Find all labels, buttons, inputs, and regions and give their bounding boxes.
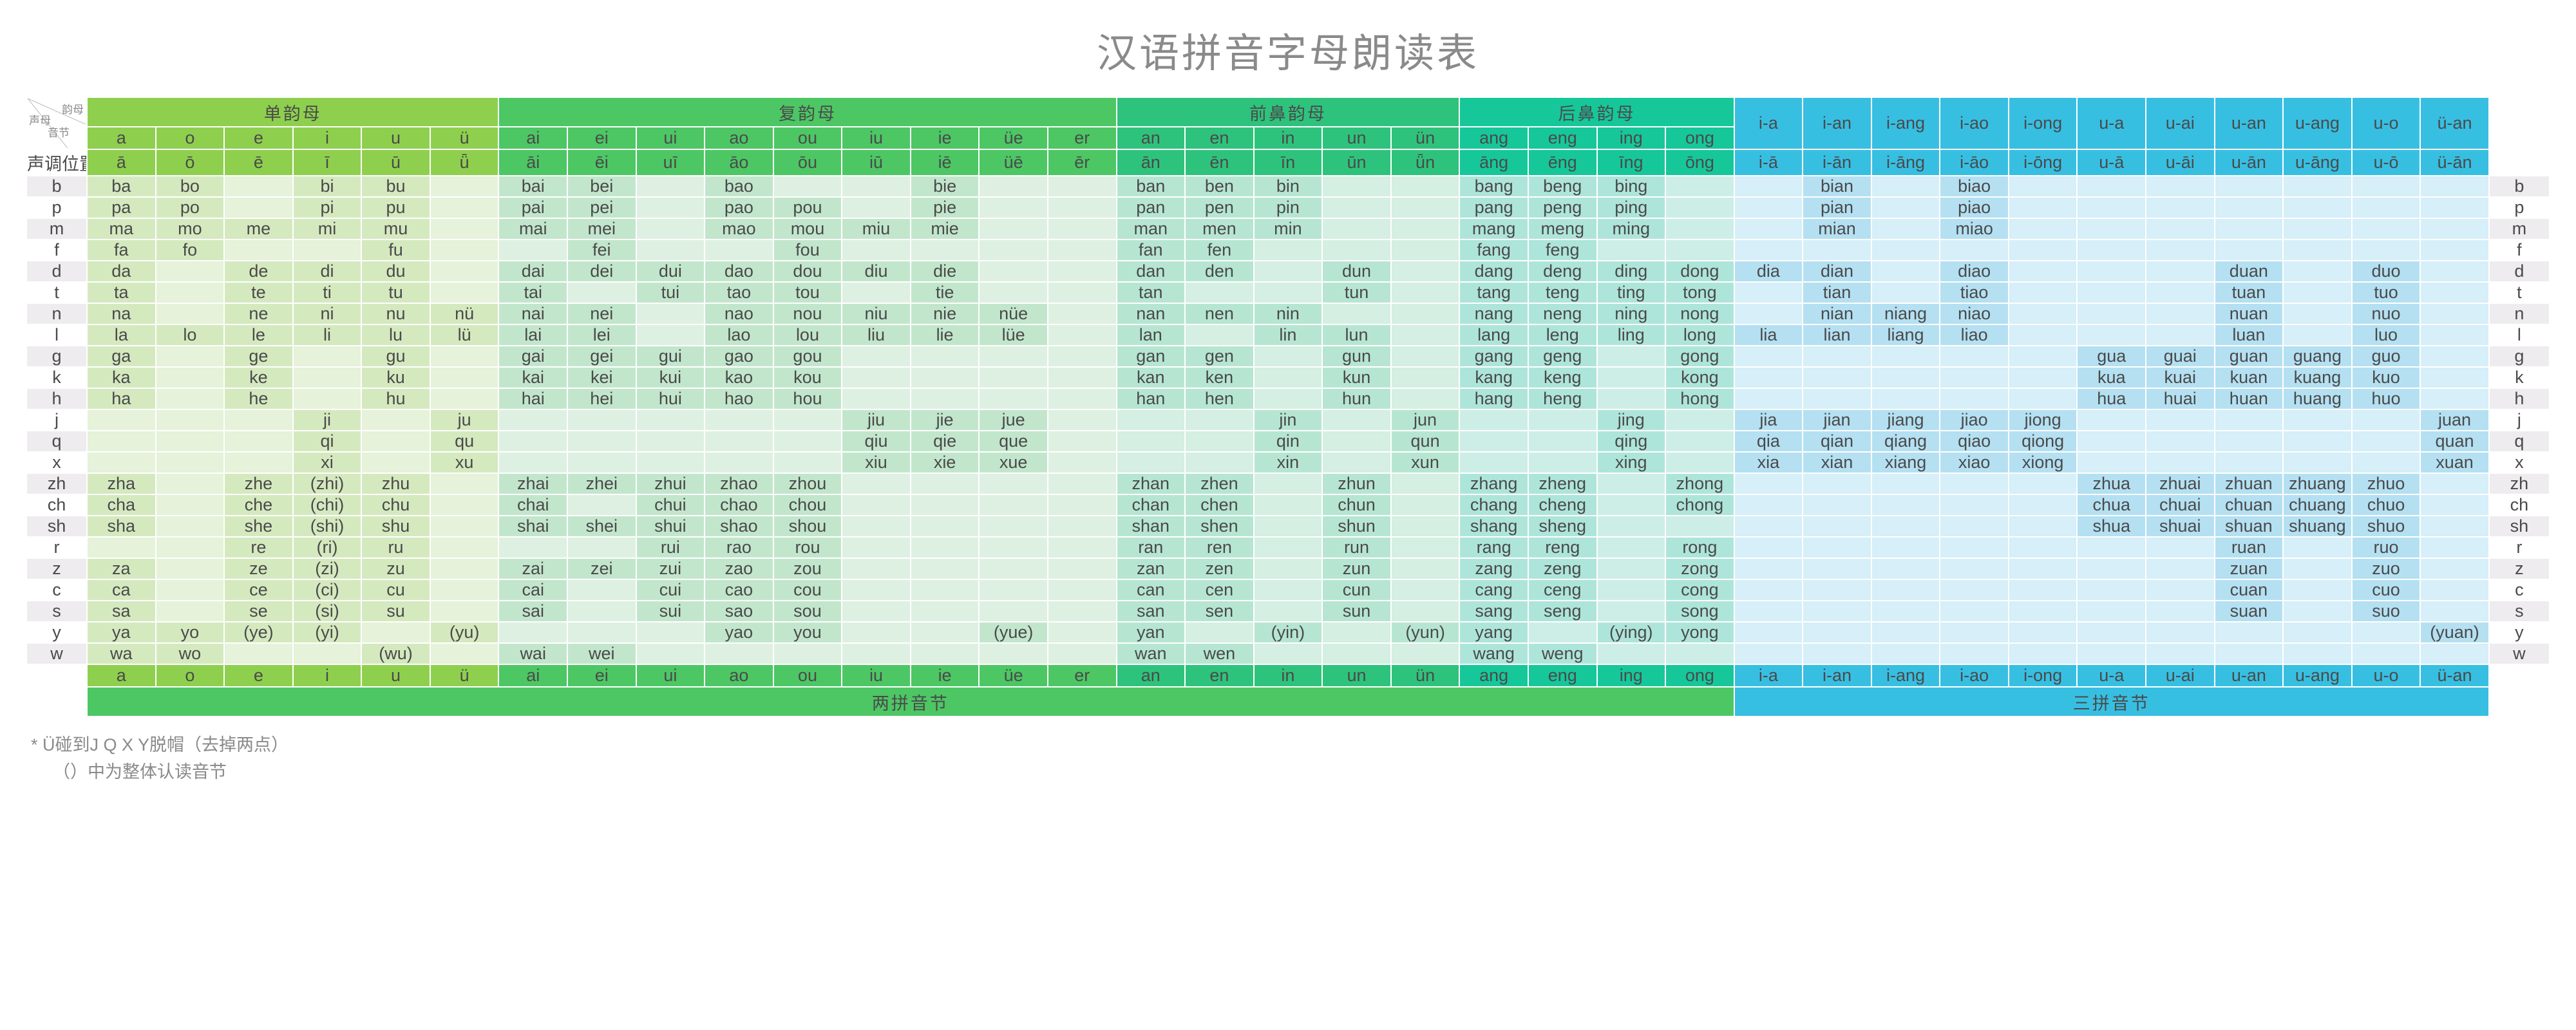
syllable-cell[interactable]: diu [842,261,910,281]
syllable-cell[interactable]: ming [1598,219,1665,239]
syllable-cell[interactable]: tuo [2353,283,2420,303]
syllable-cell[interactable]: kong [1666,368,1734,388]
syllable-cell[interactable]: diao [1940,261,2008,281]
syllable-cell[interactable]: kai [499,368,567,388]
syllable-cell[interactable]: pao [705,198,773,218]
syllable-cell[interactable]: zao [705,559,773,579]
syllable-cell[interactable]: mu [362,219,430,239]
syllable-cell[interactable]: seng [1529,601,1596,621]
syllable-cell[interactable]: kuang [2284,368,2351,388]
syllable-cell[interactable]: ben [1186,176,1253,196]
syllable-cell[interactable]: beng [1529,176,1596,196]
syllable-cell[interactable]: duan [2215,261,2283,281]
syllable-cell[interactable]: bei [568,176,636,196]
syllable-cell[interactable]: xiong [2009,453,2077,473]
syllable-cell[interactable]: qia [1735,431,1803,451]
syllable-cell[interactable]: sai [499,601,567,621]
syllable-cell[interactable]: zheng [1529,474,1596,494]
syllable-cell[interactable]: zha [88,474,155,494]
syllable-cell[interactable]: zhuang [2284,474,2351,494]
syllable-cell[interactable]: huan [2215,389,2283,409]
syllable-cell[interactable]: ma [88,219,155,239]
syllable-cell[interactable]: ruan [2215,538,2283,557]
syllable-cell[interactable]: mei [568,219,636,239]
syllable-cell[interactable]: tie [911,283,979,303]
syllable-cell[interactable]: rao [705,538,773,557]
syllable-cell[interactable]: nou [774,304,842,324]
syllable-cell[interactable]: gao [705,346,773,366]
syllable-cell[interactable]: ban [1117,176,1185,196]
syllable-cell[interactable]: mao [705,219,773,239]
syllable-cell[interactable]: cui [637,580,705,600]
syllable-cell[interactable]: duo [2353,261,2420,281]
syllable-cell[interactable]: gei [568,346,636,366]
syllable-cell[interactable]: jie [911,410,979,430]
syllable-cell[interactable]: suan [2215,601,2283,621]
syllable-cell[interactable]: kun [1323,368,1390,388]
syllable-cell[interactable]: hen [1186,389,1253,409]
syllable-cell[interactable]: nu [362,304,430,324]
syllable-cell[interactable]: reng [1529,538,1596,557]
syllable-cell[interactable]: gua [2078,346,2145,366]
syllable-cell[interactable]: zang [1460,559,1528,579]
syllable-cell[interactable]: sang [1460,601,1528,621]
syllable-cell[interactable]: pou [774,198,842,218]
syllable-cell[interactable]: sa [88,601,155,621]
syllable-cell[interactable]: lü [431,325,498,345]
syllable-cell[interactable]: shun [1323,516,1390,536]
syllable-cell[interactable]: ka [88,368,155,388]
syllable-cell[interactable]: zuo [2353,559,2420,579]
syllable-cell[interactable]: nao [705,304,773,324]
syllable-cell[interactable]: long [1666,325,1734,345]
syllable-cell[interactable]: shei [568,516,636,536]
syllable-cell[interactable]: lai [499,325,567,345]
syllable-cell[interactable]: juan [2421,410,2488,430]
syllable-cell[interactable]: cai [499,580,567,600]
syllable-cell[interactable]: sui [637,601,705,621]
syllable-cell[interactable]: lian [1803,325,1871,345]
syllable-cell[interactable]: xi [294,453,361,473]
syllable-cell[interactable]: kou [774,368,842,388]
syllable-cell[interactable]: gan [1117,346,1185,366]
syllable-cell[interactable]: cang [1460,580,1528,600]
syllable-cell[interactable]: kua [2078,368,2145,388]
syllable-cell[interactable]: yang [1460,623,1528,642]
syllable-cell[interactable]: gang [1460,346,1528,366]
syllable-cell[interactable]: he [225,389,292,409]
syllable-cell[interactable]: zhuai [2146,474,2214,494]
syllable-cell[interactable]: cuan [2215,580,2283,600]
syllable-cell[interactable]: nei [568,304,636,324]
syllable-cell[interactable]: guai [2146,346,2214,366]
syllable-cell[interactable]: fei [568,240,636,260]
syllable-cell[interactable]: (yuan) [2421,623,2488,642]
syllable-cell[interactable]: huai [2146,389,2214,409]
syllable-cell[interactable]: fen [1186,240,1253,260]
syllable-cell[interactable]: wa [88,644,155,664]
syllable-cell[interactable]: shui [637,516,705,536]
syllable-cell[interactable]: tai [499,283,567,303]
syllable-cell[interactable]: ceng [1529,580,1596,600]
syllable-cell[interactable]: (zhi) [294,474,361,494]
syllable-cell[interactable]: guo [2353,346,2420,366]
syllable-cell[interactable]: kei [568,368,636,388]
syllable-cell[interactable]: (yi) [294,623,361,642]
syllable-cell[interactable]: zui [637,559,705,579]
syllable-cell[interactable]: han [1117,389,1185,409]
syllable-cell[interactable]: kang [1460,368,1528,388]
syllable-cell[interactable]: pi [294,198,361,218]
syllable-cell[interactable]: (ri) [294,538,361,557]
syllable-cell[interactable]: lun [1323,325,1390,345]
syllable-cell[interactable]: re [225,538,292,557]
syllable-cell[interactable]: zai [499,559,567,579]
syllable-cell[interactable]: zhang [1460,474,1528,494]
syllable-cell[interactable]: bai [499,176,567,196]
syllable-cell[interactable]: na [88,304,155,324]
syllable-cell[interactable]: ha [88,389,155,409]
syllable-cell[interactable]: wan [1117,644,1185,664]
syllable-cell[interactable]: gen [1186,346,1253,366]
syllable-cell[interactable]: sheng [1529,516,1596,536]
syllable-cell[interactable]: dia [1735,261,1803,281]
syllable-cell[interactable]: shuo [2353,516,2420,536]
syllable-cell[interactable]: miu [842,219,910,239]
syllable-cell[interactable]: mian [1803,219,1871,239]
syllable-cell[interactable]: shua [2078,516,2145,536]
syllable-cell[interactable]: jing [1598,410,1665,430]
syllable-cell[interactable]: nuan [2215,304,2283,324]
syllable-cell[interactable]: zhe [225,474,292,494]
syllable-cell[interactable]: kan [1117,368,1185,388]
syllable-cell[interactable]: pa [88,198,155,218]
syllable-cell[interactable]: yo [156,623,224,642]
syllable-cell[interactable]: gu [362,346,430,366]
syllable-cell[interactable]: shai [499,516,567,536]
syllable-cell[interactable]: ruo [2353,538,2420,557]
syllable-cell[interactable]: lao [705,325,773,345]
syllable-cell[interactable]: cu [362,580,430,600]
syllable-cell[interactable]: shan [1117,516,1185,536]
syllable-cell[interactable]: ken [1186,368,1253,388]
syllable-cell[interactable]: guan [2215,346,2283,366]
syllable-cell[interactable]: jian [1803,410,1871,430]
syllable-cell[interactable]: kui [637,368,705,388]
syllable-cell[interactable]: jiong [2009,410,2077,430]
syllable-cell[interactable]: nü [431,304,498,324]
syllable-cell[interactable]: qiang [1872,431,1940,451]
syllable-cell[interactable]: qie [911,431,979,451]
syllable-cell[interactable]: zhai [499,474,567,494]
syllable-cell[interactable]: liao [1940,325,2008,345]
syllable-cell[interactable]: geng [1529,346,1596,366]
syllable-cell[interactable]: fan [1117,240,1185,260]
syllable-cell[interactable]: tu [362,283,430,303]
syllable-cell[interactable]: (ye) [225,623,292,642]
syllable-cell[interactable]: pan [1117,198,1185,218]
syllable-cell[interactable]: peng [1529,198,1596,218]
syllable-cell[interactable]: rui [637,538,705,557]
syllable-cell[interactable]: (zi) [294,559,361,579]
syllable-cell[interactable]: fang [1460,240,1528,260]
syllable-cell[interactable]: dong [1666,261,1734,281]
syllable-cell[interactable]: lang [1460,325,1528,345]
syllable-cell[interactable]: nen [1186,304,1253,324]
syllable-cell[interactable]: wang [1460,644,1528,664]
syllable-cell[interactable]: te [225,283,292,303]
syllable-cell[interactable]: die [911,261,979,281]
syllable-cell[interactable]: hang [1460,389,1528,409]
syllable-cell[interactable]: cong [1666,580,1734,600]
syllable-cell[interactable]: deng [1529,261,1596,281]
syllable-cell[interactable]: su [362,601,430,621]
syllable-cell[interactable]: keng [1529,368,1596,388]
syllable-cell[interactable]: dou [774,261,842,281]
syllable-cell[interactable]: rang [1460,538,1528,557]
syllable-cell[interactable]: nüe [980,304,1047,324]
syllable-cell[interactable]: ge [225,346,292,366]
syllable-cell[interactable]: wo [156,644,224,664]
syllable-cell[interactable]: jiu [842,410,910,430]
syllable-cell[interactable]: pei [568,198,636,218]
syllable-cell[interactable]: zun [1323,559,1390,579]
syllable-cell[interactable]: dian [1803,261,1871,281]
syllable-cell[interactable]: bo [156,176,224,196]
syllable-cell[interactable]: zhui [637,474,705,494]
syllable-cell[interactable]: chen [1186,495,1253,515]
syllable-cell[interactable]: tao [705,283,773,303]
syllable-cell[interactable]: quan [2421,431,2488,451]
syllable-cell[interactable]: qiong [2009,431,2077,451]
syllable-cell[interactable]: qi [294,431,361,451]
syllable-cell[interactable]: zeng [1529,559,1596,579]
syllable-cell[interactable]: gong [1666,346,1734,366]
syllable-cell[interactable]: nuo [2353,304,2420,324]
syllable-cell[interactable]: pian [1803,198,1871,218]
syllable-cell[interactable]: za [88,559,155,579]
syllable-cell[interactable]: dao [705,261,773,281]
syllable-cell[interactable]: che [225,495,292,515]
syllable-cell[interactable]: hai [499,389,567,409]
syllable-cell[interactable]: bie [911,176,979,196]
syllable-cell[interactable]: jun [1392,410,1459,430]
syllable-cell[interactable]: chao [705,495,773,515]
syllable-cell[interactable]: teng [1529,283,1596,303]
syllable-cell[interactable]: shou [774,516,842,536]
syllable-cell[interactable]: (yu) [431,623,498,642]
syllable-cell[interactable]: piao [1940,198,2008,218]
syllable-cell[interactable]: feng [1529,240,1596,260]
syllable-cell[interactable]: kuan [2215,368,2283,388]
syllable-cell[interactable]: jiao [1940,410,2008,430]
syllable-cell[interactable]: lo [156,325,224,345]
syllable-cell[interactable]: xiu [842,453,910,473]
syllable-cell[interactable]: lou [774,325,842,345]
syllable-cell[interactable]: huang [2284,389,2351,409]
syllable-cell[interactable]: chan [1117,495,1185,515]
syllable-cell[interactable]: jia [1735,410,1803,430]
syllable-cell[interactable]: zong [1666,559,1734,579]
syllable-cell[interactable]: neng [1529,304,1596,324]
syllable-cell[interactable]: (chi) [294,495,361,515]
syllable-cell[interactable]: kuai [2146,368,2214,388]
syllable-cell[interactable]: ran [1117,538,1185,557]
syllable-cell[interactable]: chai [499,495,567,515]
syllable-cell[interactable]: hou [774,389,842,409]
syllable-cell[interactable]: fo [156,240,224,260]
syllable-cell[interactable]: ning [1598,304,1665,324]
syllable-cell[interactable]: chong [1666,495,1734,515]
syllable-cell[interactable]: nong [1666,304,1734,324]
syllable-cell[interactable]: nan [1117,304,1185,324]
syllable-cell[interactable]: suo [2353,601,2420,621]
syllable-cell[interactable]: mie [911,219,979,239]
syllable-cell[interactable]: la [88,325,155,345]
syllable-cell[interactable]: wen [1186,644,1253,664]
syllable-cell[interactable]: ku [362,368,430,388]
syllable-cell[interactable]: chu [362,495,430,515]
syllable-cell[interactable]: ru [362,538,430,557]
syllable-cell[interactable]: ya [88,623,155,642]
syllable-cell[interactable]: (yun) [1392,623,1459,642]
syllable-cell[interactable]: bi [294,176,361,196]
syllable-cell[interactable]: gun [1323,346,1390,366]
syllable-cell[interactable]: chou [774,495,842,515]
syllable-cell[interactable]: tou [774,283,842,303]
syllable-cell[interactable]: zu [362,559,430,579]
syllable-cell[interactable]: (ying) [1598,623,1665,642]
syllable-cell[interactable]: zhou [774,474,842,494]
syllable-cell[interactable]: xun [1392,453,1459,473]
syllable-cell[interactable]: chuo [2353,495,2420,515]
syllable-cell[interactable]: liu [842,325,910,345]
syllable-cell[interactable]: dan [1117,261,1185,281]
syllable-cell[interactable]: guang [2284,346,2351,366]
syllable-cell[interactable]: qiu [842,431,910,451]
syllable-cell[interactable]: sha [88,516,155,536]
syllable-cell[interactable]: ce [225,580,292,600]
syllable-cell[interactable]: shu [362,516,430,536]
syllable-cell[interactable]: lie [911,325,979,345]
syllable-cell[interactable]: tun [1323,283,1390,303]
syllable-cell[interactable]: chang [1460,495,1528,515]
syllable-cell[interactable]: wai [499,644,567,664]
syllable-cell[interactable]: zuan [2215,559,2283,579]
syllable-cell[interactable]: ren [1186,538,1253,557]
syllable-cell[interactable]: lia [1735,325,1803,345]
syllable-cell[interactable]: le [225,325,292,345]
syllable-cell[interactable]: tian [1803,283,1871,303]
syllable-cell[interactable]: nie [911,304,979,324]
syllable-cell[interactable]: she [225,516,292,536]
syllable-cell[interactable]: yong [1666,623,1734,642]
syllable-cell[interactable]: chun [1323,495,1390,515]
syllable-cell[interactable]: jin [1255,410,1322,430]
syllable-cell[interactable]: cheng [1529,495,1596,515]
syllable-cell[interactable]: jiang [1872,410,1940,430]
syllable-cell[interactable]: miao [1940,219,2008,239]
syllable-cell[interactable]: zen [1186,559,1253,579]
syllable-cell[interactable]: cuo [2353,580,2420,600]
syllable-cell[interactable]: du [362,261,430,281]
syllable-cell[interactable]: can [1117,580,1185,600]
syllable-cell[interactable]: dei [568,261,636,281]
syllable-cell[interactable]: me [225,219,292,239]
syllable-cell[interactable]: fou [774,240,842,260]
syllable-cell[interactable]: xing [1598,453,1665,473]
syllable-cell[interactable]: qin [1255,431,1322,451]
syllable-cell[interactable]: lüe [980,325,1047,345]
syllable-cell[interactable]: lu [362,325,430,345]
syllable-cell[interactable]: bin [1255,176,1322,196]
syllable-cell[interactable]: zhen [1186,474,1253,494]
syllable-cell[interactable]: mi [294,219,361,239]
syllable-cell[interactable]: qun [1392,431,1459,451]
syllable-cell[interactable]: (shi) [294,516,361,536]
syllable-cell[interactable]: tuan [2215,283,2283,303]
syllable-cell[interactable]: den [1186,261,1253,281]
syllable-cell[interactable]: cun [1323,580,1390,600]
syllable-cell[interactable]: dang [1460,261,1528,281]
syllable-cell[interactable]: yao [705,623,773,642]
syllable-cell[interactable]: zhan [1117,474,1185,494]
syllable-cell[interactable]: (yin) [1255,623,1322,642]
syllable-cell[interactable]: pin [1255,198,1322,218]
syllable-cell[interactable]: kuo [2353,368,2420,388]
syllable-cell[interactable]: zhong [1666,474,1734,494]
syllable-cell[interactable]: tiao [1940,283,2008,303]
syllable-cell[interactable]: ti [294,283,361,303]
syllable-cell[interactable]: shuan [2215,516,2283,536]
syllable-cell[interactable]: tong [1666,283,1734,303]
syllable-cell[interactable]: mang [1460,219,1528,239]
syllable-cell[interactable]: liang [1872,325,1940,345]
syllable-cell[interactable]: jue [980,410,1047,430]
syllable-cell[interactable]: qian [1803,431,1871,451]
syllable-cell[interactable]: cou [774,580,842,600]
syllable-cell[interactable]: ju [431,410,498,430]
syllable-cell[interactable]: ne [225,304,292,324]
syllable-cell[interactable]: ji [294,410,361,430]
syllable-cell[interactable]: pie [911,198,979,218]
syllable-cell[interactable]: song [1666,601,1734,621]
syllable-cell[interactable]: bang [1460,176,1528,196]
syllable-cell[interactable]: qu [431,431,498,451]
syllable-cell[interactable]: men [1186,219,1253,239]
syllable-cell[interactable]: xiao [1940,453,2008,473]
syllable-cell[interactable]: cen [1186,580,1253,600]
syllable-cell[interactable]: hao [705,389,773,409]
syllable-cell[interactable]: (yue) [980,623,1047,642]
syllable-cell[interactable]: hun [1323,389,1390,409]
syllable-cell[interactable]: rong [1666,538,1734,557]
syllable-cell[interactable]: dui [637,261,705,281]
syllable-cell[interactable]: cha [88,495,155,515]
syllable-cell[interactable]: xue [980,453,1047,473]
syllable-cell[interactable]: lei [568,325,636,345]
syllable-cell[interactable]: zhao [705,474,773,494]
syllable-cell[interactable]: zhun [1323,474,1390,494]
syllable-cell[interactable]: niao [1940,304,2008,324]
syllable-cell[interactable]: xin [1255,453,1322,473]
syllable-cell[interactable]: zhuan [2215,474,2283,494]
syllable-cell[interactable]: run [1323,538,1390,557]
syllable-cell[interactable]: gou [774,346,842,366]
syllable-cell[interactable]: meng [1529,219,1596,239]
syllable-cell[interactable]: ta [88,283,155,303]
syllable-cell[interactable]: luan [2215,325,2283,345]
